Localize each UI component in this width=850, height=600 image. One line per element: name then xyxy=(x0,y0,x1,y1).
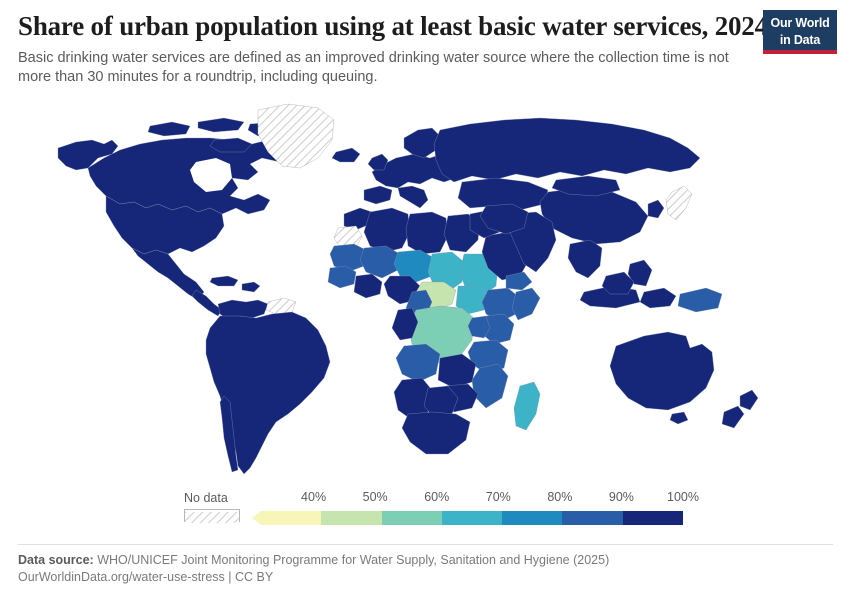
chart-header: Share of urban population using at least… xyxy=(18,10,758,87)
region-oceania[interactable] xyxy=(610,332,758,428)
legend-color-scale[interactable]: 40%50%60%70%80%90%100% xyxy=(243,488,683,534)
country-south-africa[interactable] xyxy=(402,412,470,454)
legend-bin-80[interactable] xyxy=(502,511,562,525)
country-canada-arctic-1[interactable] xyxy=(148,122,190,136)
footer-source-text: WHO/UNICEF Joint Monitoring Programme fo… xyxy=(97,553,609,567)
legend-nodata-label: No data xyxy=(184,491,246,505)
country-guyanas[interactable] xyxy=(266,298,296,314)
footer-source-line: Data source: WHO/UNICEF Joint Monitoring… xyxy=(18,552,833,569)
owid-logo-line-2: in Data xyxy=(767,33,833,50)
legend-tick-40: 40% xyxy=(301,490,326,504)
legend-bin-60[interactable] xyxy=(382,511,442,525)
country-italy-balkans[interactable] xyxy=(398,186,428,208)
legend-bin-70[interactable] xyxy=(442,511,502,525)
region-north-america[interactable] xyxy=(58,104,360,316)
country-mexico[interactable] xyxy=(132,248,204,300)
country-iberia[interactable] xyxy=(364,186,392,204)
country-algeria[interactable] xyxy=(364,208,410,252)
legend-tick-row: 40%50%60%70%80%90%100% xyxy=(243,488,683,506)
country-mali[interactable] xyxy=(360,246,400,278)
country-senegal-guinea[interactable] xyxy=(328,266,356,288)
legend-nodata-group[interactable]: No data xyxy=(184,491,246,522)
country-japan[interactable] xyxy=(666,186,692,220)
legend-tick-70: 70% xyxy=(486,490,511,504)
footer-source-prefix: Data source: xyxy=(18,553,94,567)
region-africa[interactable] xyxy=(328,208,540,454)
footer-link-line[interactable]: OurWorldinData.org/water-use-stress | CC… xyxy=(18,569,833,586)
country-australia[interactable] xyxy=(610,332,714,410)
region-south-america[interactable] xyxy=(206,298,330,474)
country-british-isles[interactable] xyxy=(368,154,388,170)
legend-bins-row[interactable] xyxy=(243,511,683,525)
owid-logo[interactable]: Our World in Data xyxy=(763,10,837,54)
country-hispaniola[interactable] xyxy=(242,282,260,292)
legend-tick-100: 100% xyxy=(667,490,699,504)
country-papua-new-guinea[interactable] xyxy=(678,288,722,312)
legend-tick-60: 60% xyxy=(424,490,449,504)
chart-footer: Data source: WHO/UNICEF Joint Monitoring… xyxy=(18,544,833,586)
country-somalia[interactable] xyxy=(512,288,540,320)
legend-bin-50[interactable] xyxy=(321,511,381,525)
legend-tick-50: 50% xyxy=(363,490,388,504)
owid-logo-line-1: Our World xyxy=(767,16,833,33)
country-new-zealand-south[interactable] xyxy=(722,406,744,428)
country-china[interactable] xyxy=(540,188,648,244)
country-ivory-ghana[interactable] xyxy=(354,274,382,298)
hatch-pattern-icon xyxy=(185,512,239,523)
chart-subtitle: Basic drinking water services are define… xyxy=(18,49,748,87)
country-new-zealand[interactable] xyxy=(740,390,758,410)
legend-bin-40[interactable] xyxy=(261,511,321,525)
country-indonesia-2[interactable] xyxy=(640,288,676,308)
country-libya[interactable] xyxy=(406,212,448,254)
legend-tick-80: 80% xyxy=(547,490,572,504)
country-russia[interactable] xyxy=(434,118,700,182)
country-canada-arctic-2[interactable] xyxy=(198,118,244,132)
country-korea[interactable] xyxy=(648,200,664,218)
country-canada-arctic-4[interactable] xyxy=(210,138,252,152)
country-tasmania[interactable] xyxy=(670,412,688,424)
legend-tick-90: 90% xyxy=(609,490,634,504)
page-title: Share of urban population using at least… xyxy=(18,10,758,42)
country-southeast-asia[interactable] xyxy=(568,240,602,278)
country-mozambique[interactable] xyxy=(472,364,508,408)
country-madagascar[interactable] xyxy=(514,382,540,430)
country-cuba[interactable] xyxy=(210,276,238,286)
country-angola[interactable] xyxy=(396,344,440,382)
map-legend[interactable]: No data 40%50%60%70%80%90%100% xyxy=(0,488,850,538)
world-choropleth-map[interactable] xyxy=(0,96,850,486)
legend-bin-90[interactable] xyxy=(562,511,622,525)
country-central-america[interactable] xyxy=(192,290,222,316)
country-brazil-block[interactable] xyxy=(206,312,330,474)
legend-bin-100[interactable] xyxy=(623,511,683,525)
legend-nodata-swatch[interactable] xyxy=(184,509,240,522)
country-iceland[interactable] xyxy=(332,148,360,162)
world-map-container[interactable] xyxy=(0,96,850,486)
legend-scale-left-cap xyxy=(243,511,261,525)
